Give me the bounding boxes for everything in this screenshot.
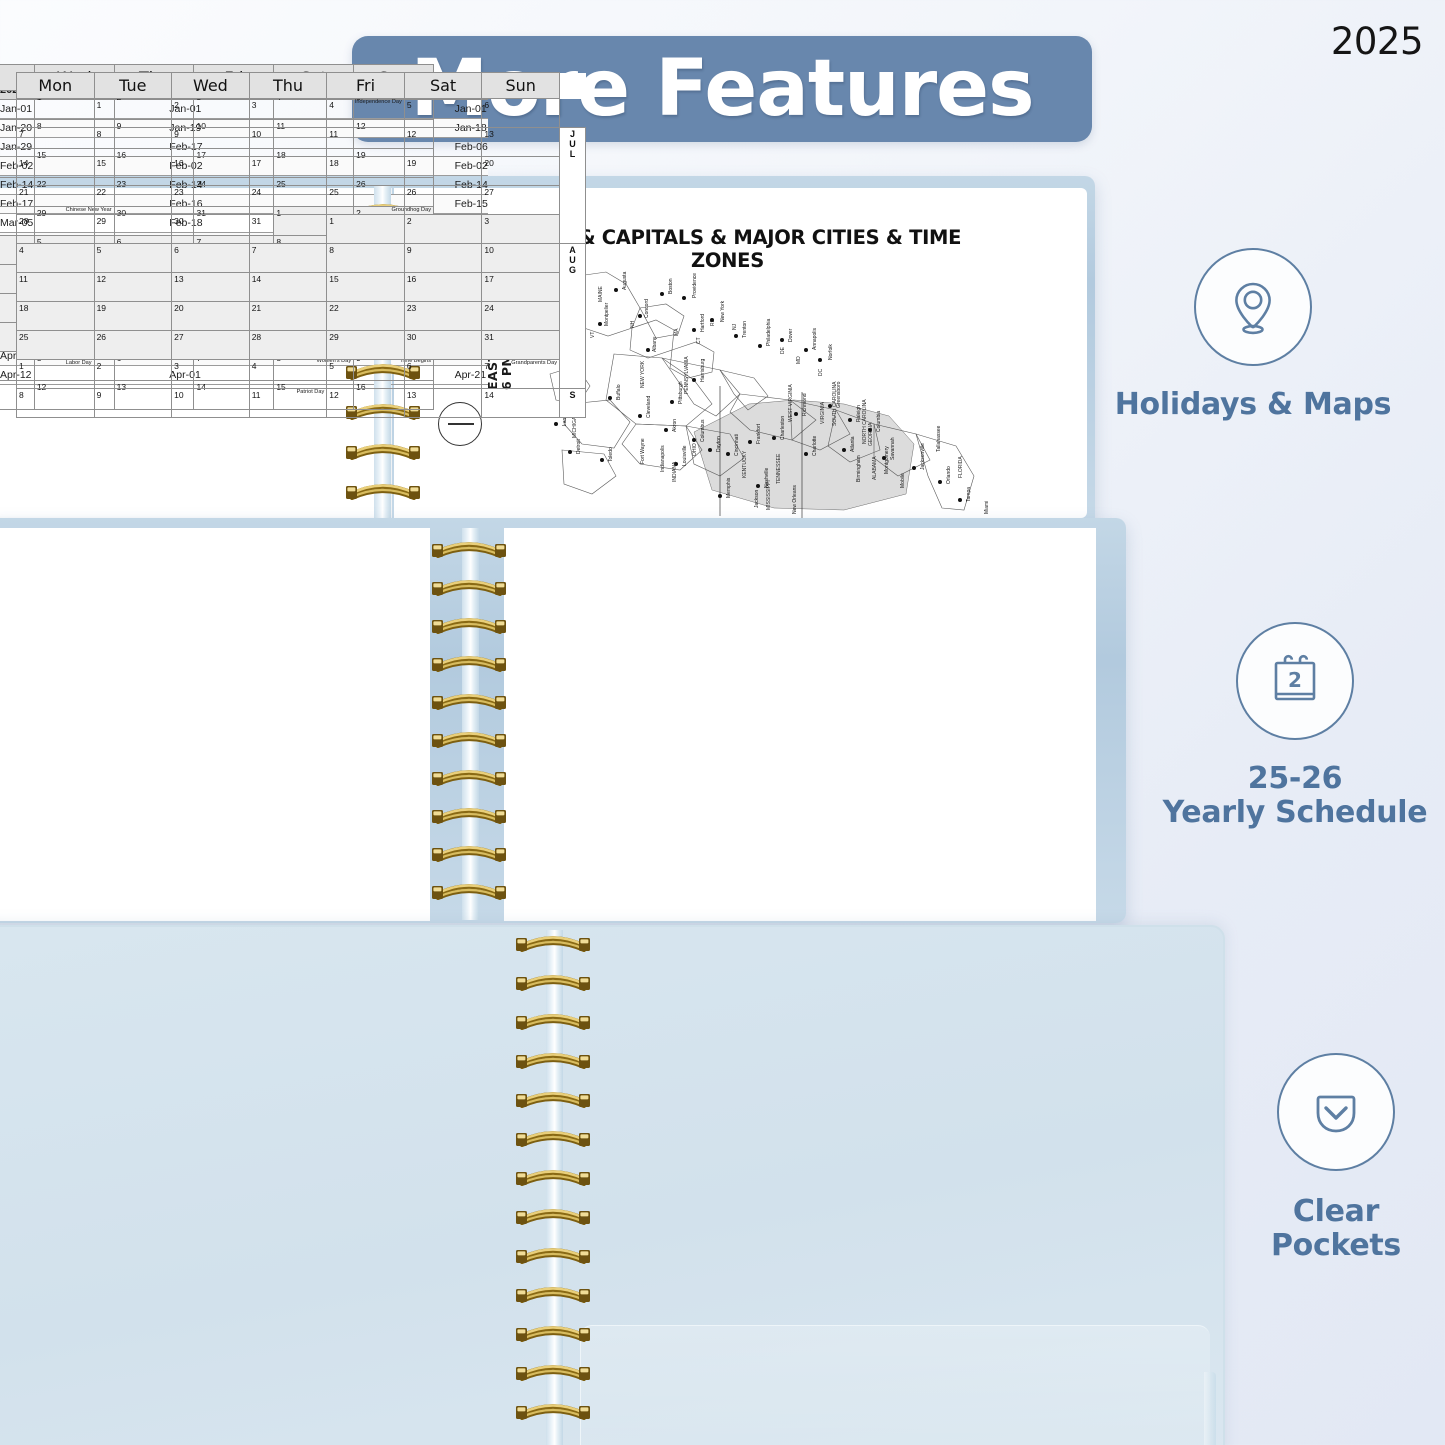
calendar-day-cell[interactable]: 25	[17, 331, 95, 360]
calendar-week-row: 1234Independence Day56	[17, 99, 586, 128]
calendar-day-cell[interactable]: 12	[94, 273, 172, 302]
map-state-label: NH	[630, 320, 636, 328]
calendar-day-cell[interactable]: 5	[94, 244, 172, 273]
holiday-note: Independence Day	[355, 100, 402, 106]
calendar-day-cell[interactable]: 13	[404, 389, 482, 418]
day-number: 15	[329, 274, 338, 284]
day-number: 27	[484, 187, 493, 197]
map-city-label: Cleveland	[646, 396, 652, 418]
spiral-coil	[432, 576, 506, 596]
calendar-day-cell[interactable]: 23	[172, 186, 250, 215]
holiday-note: Labor Day	[66, 361, 92, 367]
map-city-label: Annapolis	[812, 328, 818, 350]
calendar-day-cell[interactable]: 6	[172, 244, 250, 273]
calendar-day-cell[interactable]: 18	[327, 157, 405, 186]
calendar-day-cell[interactable]: 11	[327, 128, 405, 157]
map-city-label: Jacksonville	[920, 443, 926, 470]
map-city-label: Tampa	[966, 487, 972, 502]
map-city-label: Hartford	[700, 314, 706, 332]
spiral-coil	[516, 1049, 590, 1069]
calendar-day-cell[interactable]: 17	[249, 157, 327, 186]
calendar-day-cell[interactable]: 3	[249, 99, 327, 128]
calendar-day-cell[interactable]: 11Patriot Day	[249, 389, 327, 418]
day-number: 28	[19, 216, 28, 226]
map-city-label: Indianapolis	[660, 445, 666, 472]
calendar-icon: 2	[1236, 622, 1354, 740]
day-number: 8	[19, 390, 24, 400]
map-city-label: Charlotte	[812, 435, 818, 456]
map-city-label: Montgomery	[884, 446, 890, 474]
map-city-label: Dayton	[716, 436, 722, 452]
spiral-coil	[432, 652, 506, 672]
map-state-label: CT	[696, 337, 702, 344]
calendar-day-cell[interactable]: 9	[404, 244, 482, 273]
calendar-day-cell[interactable]: 3	[482, 215, 560, 244]
calendar-week-row: 14151617181920	[17, 157, 586, 186]
day-number: 5	[97, 245, 102, 255]
day-number: 6	[174, 245, 179, 255]
day-number: 5	[407, 100, 412, 110]
map-city-label: Fort Wayne	[640, 438, 646, 464]
day-number: 10	[174, 390, 183, 400]
map-state-label: GEORGIA	[868, 422, 874, 446]
map-city-label: Mobile	[900, 473, 906, 488]
spiral-coil	[516, 1166, 590, 1186]
day-number: 18	[19, 303, 28, 313]
calendar-day-cell[interactable]: 20	[172, 302, 250, 331]
feature-label: Holidays & Maps	[1098, 388, 1408, 422]
spiral-coil	[516, 1244, 590, 1264]
day-number: 1	[19, 361, 24, 371]
calendar-day-cell[interactable]: 20	[482, 157, 560, 186]
day-number: 24	[252, 187, 261, 197]
calendar-day-cell[interactable]: 26	[94, 331, 172, 360]
map-city-label: Jackson	[754, 489, 760, 508]
day-number: 23	[174, 187, 183, 197]
calendar-day-cell[interactable]: 29	[94, 215, 172, 244]
day-number: 9	[97, 390, 102, 400]
calendar-week-row: 21222324252627	[17, 186, 586, 215]
calendar-day-cell[interactable]: 10	[482, 244, 560, 273]
calendar-day-cell[interactable]: 31	[482, 331, 560, 360]
map-city-label: Tallahassee	[936, 425, 942, 452]
day-number: 22	[329, 303, 338, 313]
calendar-day-cell[interactable]: 21	[17, 186, 95, 215]
map-city-label: Albany	[652, 336, 658, 352]
calendar-day-cell[interactable]: 7	[249, 244, 327, 273]
calendar-day-cell[interactable]: 10	[249, 128, 327, 157]
map-city-label: Charleston	[780, 416, 786, 440]
calendar-day-cell[interactable]: 7Grandparents Day	[482, 360, 560, 389]
map-city-label: Frankfort	[756, 423, 762, 444]
calendar-year-label: 2025	[1331, 20, 1423, 63]
day-number: 4	[329, 100, 334, 110]
day-number: 2	[97, 361, 102, 371]
calendar-day-cell[interactable]: 19	[404, 157, 482, 186]
day-number: 15	[97, 158, 106, 168]
calendar-day-cell[interactable]: 2	[404, 215, 482, 244]
map-city-label: Providence	[692, 273, 698, 298]
day-number: 29	[329, 332, 338, 342]
day-number: 4	[19, 245, 24, 255]
day-number: 1	[97, 100, 102, 110]
spiral-coil	[432, 614, 506, 634]
map-city-label: Savannah	[890, 437, 896, 460]
calendar-day-cell[interactable]: 21	[249, 302, 327, 331]
holiday-note: Patriot Day	[297, 390, 325, 396]
calendar-day-cell[interactable]: 14	[17, 157, 95, 186]
day-number: 13	[484, 129, 493, 139]
map-pin-icon	[1194, 248, 1312, 366]
calendar-day-cell[interactable]: 15	[327, 273, 405, 302]
day-number: 14	[19, 158, 28, 168]
spiral-coil	[346, 440, 420, 460]
calendar-left-page	[0, 528, 430, 921]
feature-label: Clear Pockets	[1228, 1195, 1444, 1262]
day-number: 11	[19, 274, 28, 284]
spiral-coil	[516, 1127, 590, 1147]
spiral-coil	[432, 690, 506, 710]
map-city-label: Detroit	[576, 439, 582, 454]
calendar-day-cell[interactable]: 2	[172, 99, 250, 128]
day-number: 13	[174, 274, 183, 284]
day-number: 30	[174, 216, 183, 226]
weekday-header: Sat	[404, 73, 482, 99]
calendar-day-cell[interactable]: 1Labor Day	[17, 360, 95, 389]
day-number: 12	[329, 390, 338, 400]
weekday-header: Fri	[327, 73, 405, 99]
calendar-day-cell[interactable]: 8	[327, 244, 405, 273]
day-number: 20	[484, 158, 493, 168]
clear-pocket	[580, 1325, 1210, 1445]
calendar-right-table: MonTueWedThuFriSatSun 1234Independence D…	[16, 72, 586, 418]
calendar-day-cell[interactable]: 15	[94, 157, 172, 186]
day-number: 4	[252, 361, 257, 371]
map-city-label: Cincinnati	[734, 434, 740, 456]
day-number: 14	[484, 390, 493, 400]
calendar-right-page	[504, 528, 1096, 921]
day-number: 26	[97, 332, 106, 342]
map-state-label: PENNSYLVANIA	[684, 356, 690, 394]
map-state-label: WEST VIRGINIA	[788, 384, 794, 422]
map-city-label: Orlando	[946, 466, 952, 484]
spiral-coil	[516, 1205, 590, 1225]
spiral-coil	[432, 804, 506, 824]
map-state-label: KENTUCKY	[742, 450, 748, 478]
calendar-day-cell[interactable]: 1	[94, 99, 172, 128]
spiral-coil	[432, 538, 506, 558]
calendar-day-cell[interactable]: 22	[94, 186, 172, 215]
map-state-label: NEW YORK	[640, 360, 646, 388]
calendar-day-cell[interactable]: 1	[327, 215, 405, 244]
calendar-day-cell[interactable]: 12	[404, 128, 482, 157]
map-city-label: Harrisburg	[700, 358, 706, 382]
map-state-label: MAINE	[598, 286, 604, 303]
month-tab[interactable]: J U L	[560, 128, 586, 244]
map-city-label: Concord	[644, 299, 650, 318]
us-map: AugustaBostonProvidenceConcordMontpelier…	[540, 252, 1000, 528]
calendar-week-row: 25262728293031	[17, 331, 586, 360]
day-number: 21	[252, 303, 261, 313]
calendar-day-cell[interactable]: 8	[94, 128, 172, 157]
calendar-day-cell[interactable]: 12	[327, 389, 405, 418]
day-number: 7	[252, 245, 257, 255]
day-number: 7	[19, 129, 24, 139]
map-city-label: Atlanta	[850, 436, 856, 452]
day-number: 22	[97, 187, 106, 197]
map-city-label: New Orleans	[792, 485, 798, 514]
day-number: 10	[484, 245, 493, 255]
day-number: 24	[484, 303, 493, 313]
bottom-spiral-binding	[516, 932, 590, 1445]
map-city-label: Richmond	[802, 393, 808, 416]
day-number: 31	[252, 216, 261, 226]
calendar-day-cell[interactable]: 26	[404, 186, 482, 215]
spiral-coil	[516, 1010, 590, 1030]
day-number: 6	[407, 361, 412, 371]
calendar-day-cell[interactable]: 25	[327, 186, 405, 215]
month-tab[interactable]: A U G	[560, 244, 586, 389]
spiral-coil	[432, 766, 506, 786]
calendar-day-cell[interactable]: 2	[94, 360, 172, 389]
map-city-label: Philadelphia	[766, 319, 772, 346]
spiral-coil	[346, 480, 420, 500]
calendar-day-cell[interactable]: 18	[17, 302, 95, 331]
map-city-label: Columbus	[700, 419, 706, 442]
day-number: 17	[252, 158, 261, 168]
day-number: 19	[97, 303, 106, 313]
calendar-day-cell[interactable]: 22	[327, 302, 405, 331]
calendar-day-cell[interactable]: 24	[249, 186, 327, 215]
map-city-label: Miami	[984, 501, 990, 514]
day-number: 7	[484, 361, 489, 371]
map-state-label: MA	[674, 328, 680, 336]
map-city-label: Boston	[668, 278, 674, 294]
calendar-day-cell[interactable]: 14	[482, 389, 560, 418]
day-number: 6	[484, 100, 489, 110]
day-number: 8	[97, 129, 102, 139]
calendar-day-cell[interactable]: 13	[482, 128, 560, 157]
calendar-day-cell[interactable]: 5	[404, 99, 482, 128]
map-state-label: VT	[590, 332, 596, 338]
weekday-header: Thu	[249, 73, 327, 99]
feature-yearly-schedule: 2 25-26 Yearly Schedule	[1140, 622, 1445, 829]
day-number: 26	[407, 187, 416, 197]
spiral-coil	[432, 728, 506, 748]
pocket-notch	[1204, 1372, 1216, 1445]
weekday-header: Tue	[94, 73, 172, 99]
pocket-chevron-icon	[1277, 1053, 1395, 1171]
spiral-coil	[516, 1322, 590, 1342]
map-state-label: ALABAMA	[872, 456, 878, 480]
map-state-label: DC	[818, 368, 824, 376]
feature-holidays-maps: Holidays & Maps	[1098, 248, 1408, 422]
day-number: 12	[97, 274, 106, 284]
weekday-header: Wed	[172, 73, 250, 99]
map-city-label: Dover	[788, 328, 794, 342]
calendar-day-cell[interactable]: 4	[17, 244, 95, 273]
calendar-day-cell[interactable]: 5	[327, 360, 405, 389]
day-number: 16	[174, 158, 183, 168]
map-state-label: FLORIDA	[958, 456, 964, 478]
calendar-day-cell[interactable]: 4	[249, 360, 327, 389]
calendar-day-cell[interactable]: 28	[249, 331, 327, 360]
day-number: 5	[329, 361, 334, 371]
calendar-day-cell[interactable]: 28	[17, 215, 95, 244]
map-city-label: Memphis	[726, 477, 732, 498]
day-number: 28	[252, 332, 261, 342]
map-city-label: Trenton	[742, 321, 748, 338]
back-cover	[0, 925, 1225, 1445]
calendar-day-cell[interactable]: 23	[404, 302, 482, 331]
mid-spiral-binding	[432, 538, 506, 918]
day-number: 25	[329, 187, 338, 197]
map-city-label: Augusta	[622, 271, 628, 290]
table-header-row: MonTueWedThuFriSatSun	[17, 73, 586, 99]
calendar-day-cell[interactable]: 3	[172, 360, 250, 389]
calendar-badge-number: 2	[1288, 668, 1302, 692]
spiral-coil	[516, 1400, 590, 1420]
map-city-label: Birmingham	[856, 455, 862, 482]
map-state-label: VIRGINIA	[820, 401, 826, 424]
calendar-day-cell[interactable]: 17	[482, 273, 560, 302]
day-number: 9	[174, 129, 179, 139]
calendar-week-row: 891011Patriot Day121314S	[17, 389, 586, 418]
calendar-day-cell[interactable]: 6	[404, 360, 482, 389]
map-city-label: New York	[720, 300, 726, 322]
day-number: 3	[252, 100, 257, 110]
map-state-label: DE	[780, 346, 786, 354]
calendar-day-cell[interactable]: 19	[94, 302, 172, 331]
calendar-week-row: 18192021222324	[17, 302, 586, 331]
weekday-header: Sun	[482, 73, 560, 99]
calendar-day-cell[interactable]: 27	[482, 186, 560, 215]
us-map-svg: AugustaBostonProvidenceConcordMontpelier…	[540, 252, 1000, 528]
day-number: 25	[19, 332, 28, 342]
calendar-day-cell[interactable]: 8	[17, 389, 95, 418]
day-number: 2	[174, 100, 179, 110]
calendar-day-cell[interactable]: 6	[482, 99, 560, 128]
spiral-coil	[516, 932, 590, 952]
calendar-week-row: 45678910A U G	[17, 244, 586, 273]
map-city-label: Akron	[672, 419, 678, 432]
feature-label: 25-26 Yearly Schedule	[1140, 762, 1445, 829]
calendar-day-cell[interactable]: 13	[172, 273, 250, 302]
day-number: 2	[407, 216, 412, 226]
month-tab-header	[560, 73, 586, 99]
spiral-coil	[516, 1361, 590, 1381]
map-city-label: Norfolk	[828, 344, 834, 360]
day-number: 11	[252, 390, 261, 400]
map-state-label: RI	[710, 321, 716, 326]
day-number: 16	[407, 274, 416, 284]
calendar-week-row: 78910111213J U L	[17, 128, 586, 157]
map-state-label: NJ	[732, 323, 738, 330]
calendar-day-cell[interactable]: 11	[17, 273, 95, 302]
day-number: 1	[329, 216, 334, 226]
calendar-week-row: 1Labor Day234567Grandparents Day	[17, 360, 586, 389]
day-number: 21	[19, 187, 28, 197]
map-state-label: OHIO	[692, 443, 698, 456]
map-state-label: SOUTH CAROLINA	[832, 381, 838, 426]
day-number: 11	[329, 129, 338, 139]
calendar-week-row: 11121314151617	[17, 273, 586, 302]
day-number: 12	[407, 129, 416, 139]
spiral-coil	[516, 1283, 590, 1303]
spiral-coil	[516, 1088, 590, 1108]
day-number: 30	[407, 332, 416, 342]
map-state-label: TENNESSEE	[776, 453, 782, 484]
calendar-day-cell[interactable]: 9	[172, 128, 250, 157]
calendar-day-cell[interactable]: 24	[482, 302, 560, 331]
spiral-coil	[516, 971, 590, 991]
day-number: 9	[407, 245, 412, 255]
day-number: 20	[174, 303, 183, 313]
map-city-label: Buffalo	[616, 384, 622, 400]
spiral-coil	[432, 842, 506, 862]
map-state-label: INDIANA	[672, 461, 678, 482]
calendar-day-cell[interactable]: 7	[17, 128, 95, 157]
day-number: 29	[97, 216, 106, 226]
calendar-day-cell[interactable]: 4Independence Day	[327, 99, 405, 128]
calendar-day-cell[interactable]: 9	[94, 389, 172, 418]
day-number: 17	[484, 274, 493, 284]
day-number: 3	[484, 216, 489, 226]
day-number: 8	[329, 245, 334, 255]
day-number: 10	[252, 129, 261, 139]
day-number: 31	[484, 332, 493, 342]
day-number: 27	[174, 332, 183, 342]
month-tab[interactable]: S	[560, 389, 586, 418]
calendar-week-row: 28293031123	[17, 215, 586, 244]
holiday-note: Grandparents Day	[511, 361, 557, 367]
calendar-day-cell[interactable]: 10	[172, 389, 250, 418]
map-city-label: Columbia	[876, 411, 882, 432]
calendar-day-cell[interactable]	[17, 99, 95, 128]
calendar-day-cell[interactable]: 16	[404, 273, 482, 302]
day-number: 13	[407, 390, 416, 400]
day-number: 18	[329, 158, 338, 168]
mid-planner-spread	[0, 518, 1126, 923]
map-state-label: MISSISSIPPI	[766, 480, 772, 510]
map-city-label: Toledo	[608, 447, 614, 462]
map-state-label: MD	[796, 356, 802, 364]
day-number: 14	[252, 274, 261, 284]
feature-clear-pockets: Clear Pockets	[1228, 1053, 1444, 1262]
calendar-day-cell[interactable]: 16	[172, 157, 250, 186]
weekday-header: Mon	[17, 73, 95, 99]
spiral-coil	[432, 880, 506, 900]
calendar-day-cell[interactable]: 29	[327, 331, 405, 360]
map-city-label: Montpelier	[604, 302, 610, 326]
map-city-label: Louisville	[682, 445, 688, 466]
day-number: 19	[407, 158, 416, 168]
calendar-day-cell[interactable]: 31	[249, 215, 327, 244]
calendar-day-cell[interactable]: 30	[172, 215, 250, 244]
calendar-day-cell[interactable]: 14	[249, 273, 327, 302]
day-number: 23	[407, 303, 416, 313]
calendar-day-cell[interactable]: 27	[172, 331, 250, 360]
day-number: 3	[174, 361, 179, 371]
calendar-day-cell[interactable]: 30	[404, 331, 482, 360]
